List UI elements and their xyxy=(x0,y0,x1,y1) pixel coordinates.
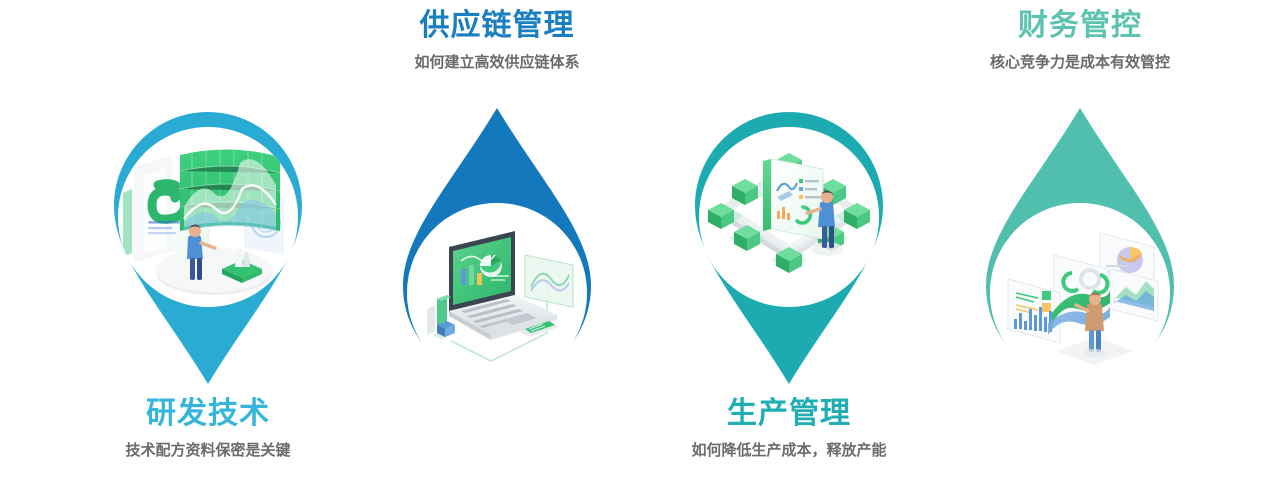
feature-subtitle-finance: 核心竞争力是成本有效管控 xyxy=(930,50,1230,76)
caption-finance: 财务管控 核心竞争力是成本有效管控 xyxy=(930,6,1230,76)
pin-badge-supply-chain[interactable] xyxy=(381,108,613,398)
illustration-finance xyxy=(990,203,1170,383)
caption-rnd: 研发技术 技术配方资料保密是关键 xyxy=(58,394,358,464)
feature-item-supply-chain[interactable]: 供应链管理 如何建立高效供应链体系 xyxy=(352,0,642,488)
pin-badge-rnd[interactable] xyxy=(92,112,324,402)
pin-badge-production[interactable] xyxy=(673,112,905,402)
feature-title-rnd: 研发技术 xyxy=(58,394,358,434)
feature-subtitle-rnd: 技术配方资料保密是关键 xyxy=(58,438,358,464)
caption-production: 生产管理 如何降低生产成本，释放产能 xyxy=(639,394,939,464)
feature-subtitle-production: 如何降低生产成本，释放产能 xyxy=(639,438,939,464)
illustration-production xyxy=(699,127,879,307)
infographic-stage: 研发技术 技术配方资料保密是关键 供应链管理 如何建立高效供应链体系 xyxy=(0,0,1263,488)
caption-supply-chain: 供应链管理 如何建立高效供应链体系 xyxy=(352,6,642,76)
feature-item-rnd[interactable]: 研发技术 技术配方资料保密是关键 xyxy=(58,0,358,488)
feature-title-finance: 财务管控 xyxy=(930,6,1230,46)
feature-title-production: 生产管理 xyxy=(639,394,939,434)
pin-badge-finance[interactable] xyxy=(964,108,1196,398)
feature-subtitle-supply-chain: 如何建立高效供应链体系 xyxy=(352,50,642,76)
feature-item-production[interactable]: 生产管理 如何降低生产成本，释放产能 xyxy=(639,0,939,488)
illustration-rnd xyxy=(118,127,298,307)
illustration-supply-chain xyxy=(407,203,587,383)
feature-item-finance[interactable]: 财务管控 核心竞争力是成本有效管控 xyxy=(930,0,1230,488)
feature-title-supply-chain: 供应链管理 xyxy=(352,6,642,46)
